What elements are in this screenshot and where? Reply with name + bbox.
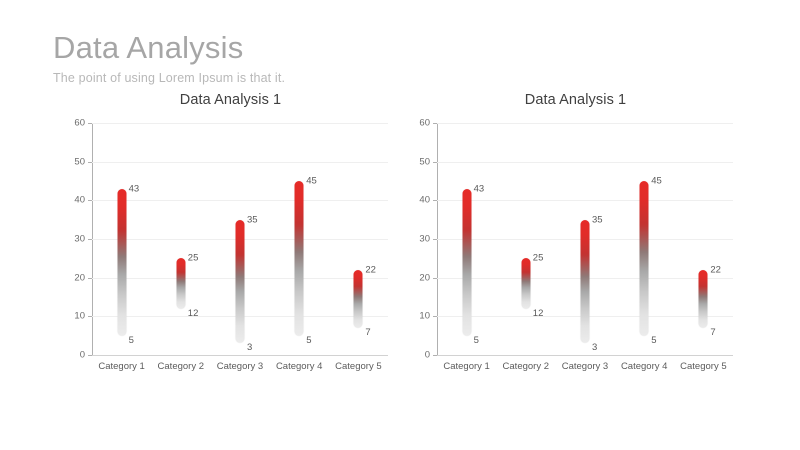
gridline-0 xyxy=(437,355,733,356)
bar-value-label-high: 43 xyxy=(474,183,485,194)
y-tick-0 xyxy=(433,355,437,356)
bar-value-label-low: 3 xyxy=(592,342,597,353)
y-tick-label: 40 xyxy=(419,195,430,206)
range-bar[interactable] xyxy=(462,189,471,336)
category-label-2: Category 2 xyxy=(496,361,555,372)
bar-value-label-low: 3 xyxy=(247,342,252,353)
bar-value-label-high: 35 xyxy=(247,214,258,225)
page-title: Data Analysis xyxy=(53,30,285,66)
chart-panel-1[interactable]: Data Analysis 1 0102030405060 4352512353… xyxy=(58,92,403,382)
x-axis-category-labels: Category 1Category 2Category 3Category 4… xyxy=(437,361,733,379)
range-bar[interactable] xyxy=(176,258,185,308)
category-label-3: Category 3 xyxy=(555,361,614,372)
range-bar[interactable] xyxy=(699,270,708,328)
y-tick-label: 20 xyxy=(419,272,430,283)
bar-slot: 435 xyxy=(92,123,151,355)
bar-value-label-high: 35 xyxy=(592,214,603,225)
y-tick-label: 10 xyxy=(74,311,85,322)
range-bar[interactable] xyxy=(640,181,649,336)
y-tick-0 xyxy=(88,355,92,356)
chart-title: Data Analysis 1 xyxy=(403,92,748,114)
slide-canvas: Data Analysis The point of using Lorem I… xyxy=(0,0,800,450)
chart-panel-2[interactable]: Data Analysis 1 0102030405060 4352512353… xyxy=(403,92,748,382)
bar-value-label-low: 7 xyxy=(710,327,715,338)
bar-value-label-high: 22 xyxy=(710,264,721,275)
bar-value-label-high: 45 xyxy=(306,176,317,187)
category-label-5: Category 5 xyxy=(674,361,733,372)
bar-value-label-low: 12 xyxy=(533,307,544,318)
y-tick-label: 50 xyxy=(74,156,85,167)
bar-slot: 455 xyxy=(615,123,674,355)
chart-title: Data Analysis 1 xyxy=(58,92,403,114)
range-bar[interactable] xyxy=(521,258,530,308)
y-tick-label: 0 xyxy=(80,350,85,361)
bar-value-label-low: 7 xyxy=(365,327,370,338)
y-tick-label: 10 xyxy=(419,311,430,322)
gridline-0 xyxy=(92,355,388,356)
category-label-3: Category 3 xyxy=(210,361,269,372)
bar-slot: 435 xyxy=(437,123,496,355)
bar-value-label-high: 22 xyxy=(365,264,376,275)
bar-value-label-low: 12 xyxy=(188,307,199,318)
page-subtitle: The point of using Lorem Ipsum is that i… xyxy=(53,71,285,85)
bar-value-label-low: 5 xyxy=(129,335,134,346)
category-label-4: Category 4 xyxy=(615,361,674,372)
y-tick-label: 50 xyxy=(419,156,430,167)
slide-header: Data Analysis The point of using Lorem I… xyxy=(53,30,285,85)
plot-area: 0102030405060 4352512353455227 xyxy=(92,123,388,355)
bar-slot: 2512 xyxy=(151,123,210,355)
bar-slot: 227 xyxy=(674,123,733,355)
range-bar[interactable] xyxy=(295,181,304,336)
bar-slot: 2512 xyxy=(496,123,555,355)
plot-area: 0102030405060 4352512353455227 xyxy=(437,123,733,355)
range-bar[interactable] xyxy=(235,220,244,344)
range-bar[interactable] xyxy=(117,189,126,336)
bar-value-label-low: 5 xyxy=(474,335,479,346)
bar-slot: 227 xyxy=(329,123,388,355)
category-label-5: Category 5 xyxy=(329,361,388,372)
bar-series: 4352512353455227 xyxy=(437,123,733,355)
category-label-4: Category 4 xyxy=(270,361,329,372)
y-tick-label: 40 xyxy=(74,195,85,206)
bar-value-label-high: 45 xyxy=(651,176,662,187)
bar-value-label-high: 25 xyxy=(533,253,544,264)
range-bar[interactable] xyxy=(580,220,589,344)
category-label-2: Category 2 xyxy=(151,361,210,372)
range-bar[interactable] xyxy=(354,270,363,328)
y-tick-label: 60 xyxy=(419,118,430,129)
bar-slot: 353 xyxy=(555,123,614,355)
bar-slot: 455 xyxy=(270,123,329,355)
y-tick-label: 30 xyxy=(419,234,430,245)
bar-value-label-high: 25 xyxy=(188,253,199,264)
bar-value-label-low: 5 xyxy=(306,335,311,346)
bar-series: 4352512353455227 xyxy=(92,123,388,355)
y-tick-label: 60 xyxy=(74,118,85,129)
y-tick-label: 30 xyxy=(74,234,85,245)
bar-value-label-high: 43 xyxy=(129,183,140,194)
category-label-1: Category 1 xyxy=(92,361,151,372)
bar-value-label-low: 5 xyxy=(651,335,656,346)
y-tick-label: 20 xyxy=(74,272,85,283)
x-axis-category-labels: Category 1Category 2Category 3Category 4… xyxy=(92,361,388,379)
y-tick-label: 0 xyxy=(425,350,430,361)
bar-slot: 353 xyxy=(210,123,269,355)
category-label-1: Category 1 xyxy=(437,361,496,372)
